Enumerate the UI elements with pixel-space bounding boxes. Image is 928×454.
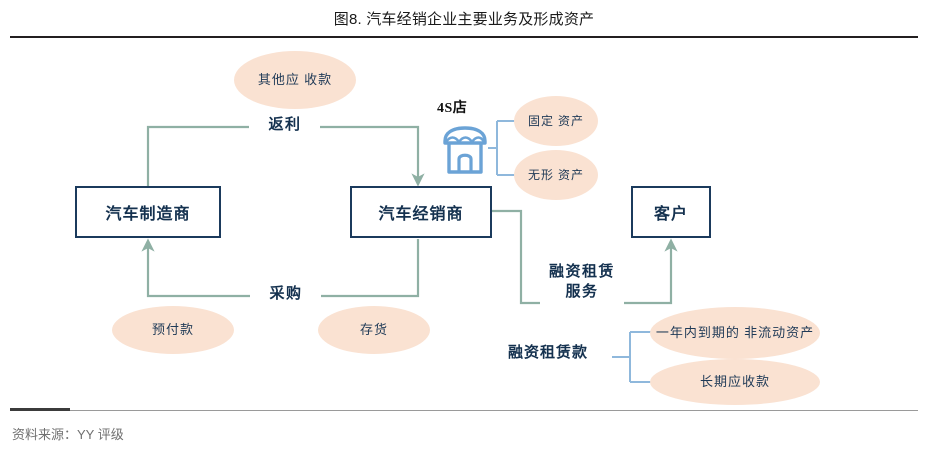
footer-divider bbox=[10, 410, 918, 411]
source-note: 资料来源：YY 评级 bbox=[12, 424, 124, 443]
ellipse-intangible-asset: 无形 资产 bbox=[514, 150, 598, 200]
title-divider bbox=[10, 36, 918, 38]
edge-label-leasing: 融资租赁 服务 bbox=[540, 262, 624, 308]
node-customer[interactable]: 客户 bbox=[631, 186, 711, 238]
lease-receivable-bracket bbox=[612, 332, 654, 382]
ellipse-fixed-asset: 固定 资产 bbox=[514, 96, 598, 146]
node-manufacturer[interactable]: 汽车制造商 bbox=[75, 186, 221, 238]
ellipse-prepayment: 预付款 bbox=[112, 306, 234, 354]
ellipse-long-term-receivable: 长期应收款 bbox=[650, 359, 820, 405]
figure-canvas: 图8. 汽车经销企业主要业务及形成资产 bbox=[0, 0, 928, 454]
label-lease-receivable: 融资租赁款 bbox=[488, 344, 608, 368]
edge-label-rebate: 返利 bbox=[252, 116, 318, 138]
footer-divider-accent bbox=[10, 408, 70, 411]
ellipse-noncurrent-due-within-year: 一年内到期的 非流动资产 bbox=[650, 307, 820, 359]
edge-label-purchase: 采购 bbox=[253, 285, 319, 307]
ellipse-other-receivable: 其他应 收款 bbox=[234, 51, 356, 109]
node-dealer[interactable]: 汽车经销商 bbox=[350, 186, 492, 238]
store-icon bbox=[437, 124, 493, 176]
figure-title: 图8. 汽车经销企业主要业务及形成资产 bbox=[0, 8, 928, 29]
store-label-4s: 4S店 bbox=[437, 97, 467, 117]
ellipse-inventory: 存货 bbox=[318, 306, 430, 354]
